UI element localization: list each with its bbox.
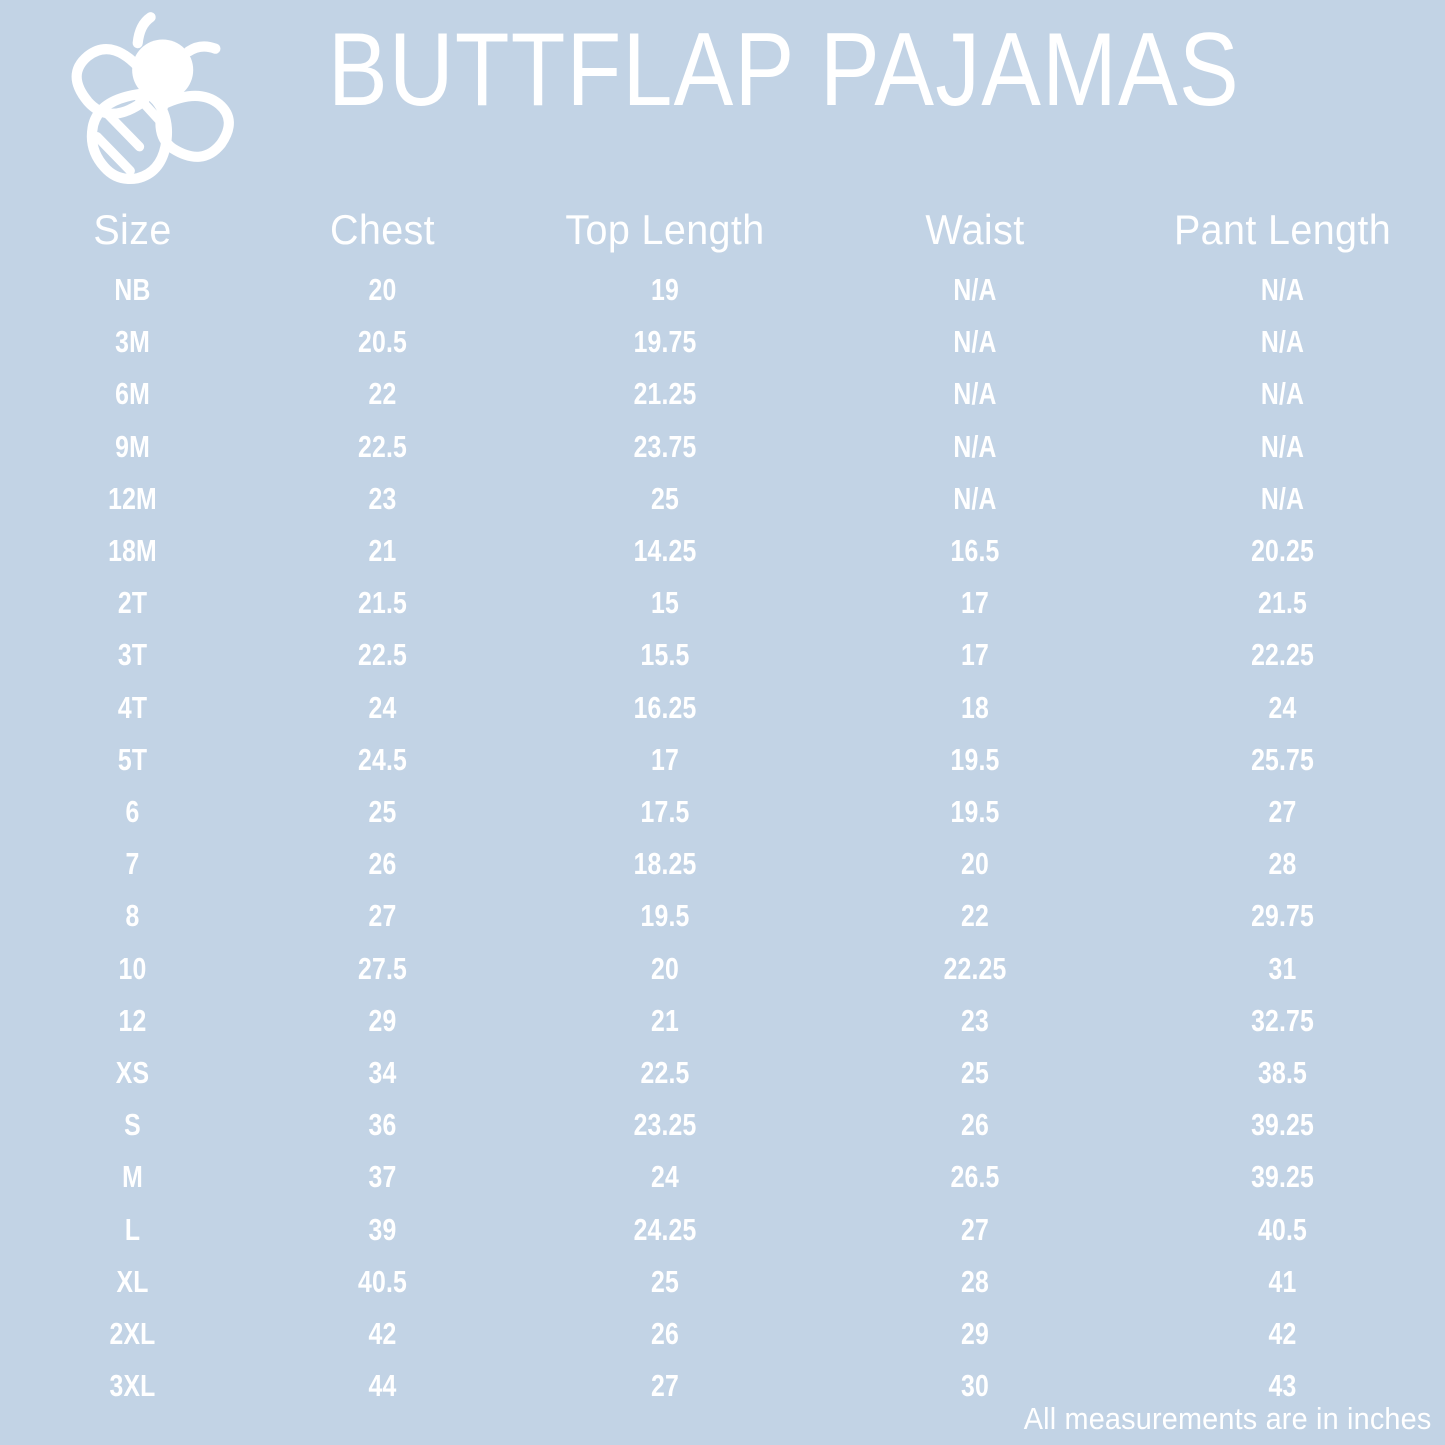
size-label-cell: 4T xyxy=(27,682,239,734)
page-title: BUTTFLAP PAJAMAS xyxy=(328,14,1283,126)
column-header-pant-length: Pant Length xyxy=(1130,196,1436,264)
measurement-cell: 20 xyxy=(289,264,477,316)
table-row: S3623.252639.25 xyxy=(0,1099,1445,1151)
measurement-cell: 19.5 xyxy=(859,786,1091,838)
measurement-cell: 27 xyxy=(289,890,477,942)
measurement-cell: 26 xyxy=(533,1308,797,1360)
measurement-cell: 17 xyxy=(859,577,1091,629)
measurement-cell: 25 xyxy=(533,1256,797,1308)
size-label-cell: XL xyxy=(27,1256,239,1308)
measurement-cell: 39.25 xyxy=(1153,1151,1413,1203)
table-row: XS3422.52538.5 xyxy=(0,1047,1445,1099)
size-label-cell: 3T xyxy=(27,629,239,681)
measurement-cell: 23 xyxy=(859,995,1091,1047)
measurement-cell: 14.25 xyxy=(533,525,797,577)
column-header-waist: Waist xyxy=(839,196,1112,264)
measurement-cell: N/A xyxy=(859,316,1091,368)
measurement-cell: 22.25 xyxy=(859,943,1091,995)
measurement-cell: N/A xyxy=(1153,421,1413,473)
measurement-cell: 22.5 xyxy=(289,629,477,681)
measurement-cell: 42 xyxy=(289,1308,477,1360)
table-header-row-group: Size Chest Top Length Waist Pant Length xyxy=(0,196,1445,264)
measurement-cell: N/A xyxy=(1153,316,1413,368)
measurement-cell: N/A xyxy=(1153,264,1413,316)
measurement-cell: 27 xyxy=(533,1360,797,1412)
measurement-cell: 19 xyxy=(533,264,797,316)
measurement-cell: 44 xyxy=(289,1360,477,1412)
table-row: 2XL42262942 xyxy=(0,1308,1445,1360)
size-chart-page: BUTTFLAP PAJAMAS Size Chest Top Length W… xyxy=(0,0,1445,1445)
table-row: M372426.539.25 xyxy=(0,1151,1445,1203)
size-label-cell: 8 xyxy=(27,890,239,942)
measurement-cell: 20.5 xyxy=(289,316,477,368)
measurement-cell: N/A xyxy=(859,473,1091,525)
measurement-cell: 20 xyxy=(533,943,797,995)
table-row: NB2019N/AN/A xyxy=(0,264,1445,316)
measurement-cell: 25 xyxy=(289,786,477,838)
table-row: L3924.252740.5 xyxy=(0,1204,1445,1256)
measurement-cell: 15 xyxy=(533,577,797,629)
table-row: 4T2416.251824 xyxy=(0,682,1445,734)
measurement-cell: 20.25 xyxy=(1153,525,1413,577)
size-label-cell: 3M xyxy=(27,316,239,368)
measurement-cell: 18 xyxy=(859,682,1091,734)
table-row: 5T24.51719.525.75 xyxy=(0,734,1445,786)
table-header-row: Size Chest Top Length Waist Pant Length xyxy=(0,196,1445,264)
size-label-cell: S xyxy=(27,1099,239,1151)
measurement-cell: 39 xyxy=(289,1204,477,1256)
table-row: 3T22.515.51722.25 xyxy=(0,629,1445,681)
table-row: 18M2114.2516.520.25 xyxy=(0,525,1445,577)
size-label-cell: NB xyxy=(27,264,239,316)
measurement-cell: 21 xyxy=(533,995,797,1047)
measurement-cell: 24 xyxy=(289,682,477,734)
table-row: 72618.252028 xyxy=(0,838,1445,890)
column-header-chest: Chest xyxy=(272,196,493,264)
measurement-cell: 22 xyxy=(289,368,477,420)
chart-header: BUTTFLAP PAJAMAS xyxy=(0,0,1445,195)
measurement-cell: 21.5 xyxy=(289,577,477,629)
measurement-cell: 24 xyxy=(1153,682,1413,734)
size-label-cell: 2T xyxy=(27,577,239,629)
measurement-cell: 21.5 xyxy=(1153,577,1413,629)
measurement-cell: N/A xyxy=(859,264,1091,316)
measurement-cell: 23 xyxy=(289,473,477,525)
measurement-cell: 19.75 xyxy=(533,316,797,368)
measurement-cell: 23.75 xyxy=(533,421,797,473)
measurement-cell: 27.5 xyxy=(289,943,477,995)
measurement-cell: 27 xyxy=(1153,786,1413,838)
measurement-cell: 20 xyxy=(859,838,1091,890)
measurement-cell: 23.25 xyxy=(533,1099,797,1151)
measurement-cell: 40.5 xyxy=(289,1256,477,1308)
measurement-cell: 17.5 xyxy=(533,786,797,838)
measurement-cell: 40.5 xyxy=(1153,1204,1413,1256)
measurement-cell: 24 xyxy=(533,1151,797,1203)
measurement-cell: N/A xyxy=(1153,368,1413,420)
table-row: 2T21.5151721.5 xyxy=(0,577,1445,629)
table-row: 82719.52229.75 xyxy=(0,890,1445,942)
measurement-cell: 19.5 xyxy=(859,734,1091,786)
measurement-cell: 22.25 xyxy=(1153,629,1413,681)
size-label-cell: XS xyxy=(27,1047,239,1099)
measurement-cell: 25 xyxy=(533,473,797,525)
measurement-cell: 22.5 xyxy=(533,1047,797,1099)
measurement-units-note: All measurements are in inches xyxy=(1023,1401,1431,1437)
measurement-cell: 34 xyxy=(289,1047,477,1099)
table-row: XL40.5252841 xyxy=(0,1256,1445,1308)
column-header-top-length: Top Length xyxy=(510,196,820,264)
measurement-cell: 25.75 xyxy=(1153,734,1413,786)
table-row: 3M20.519.75N/AN/A xyxy=(0,316,1445,368)
table-row: 62517.519.527 xyxy=(0,786,1445,838)
size-label-cell: 12 xyxy=(27,995,239,1047)
measurement-cell: 24.25 xyxy=(533,1204,797,1256)
measurement-cell: 29 xyxy=(859,1308,1091,1360)
measurement-cell: 39.25 xyxy=(1153,1099,1413,1151)
size-label-cell: 5T xyxy=(27,734,239,786)
measurement-cell: 17 xyxy=(859,629,1091,681)
size-label-cell: 6 xyxy=(27,786,239,838)
measurement-cell: 28 xyxy=(859,1256,1091,1308)
table-row: 6M2221.25N/AN/A xyxy=(0,368,1445,420)
size-chart-table: Size Chest Top Length Waist Pant Length … xyxy=(0,196,1445,1412)
measurement-cell: 41 xyxy=(1153,1256,1413,1308)
measurement-cell: 28 xyxy=(1153,838,1413,890)
table-row: 9M22.523.75N/AN/A xyxy=(0,421,1445,473)
measurement-cell: 21 xyxy=(289,525,477,577)
measurement-cell: 42 xyxy=(1153,1308,1413,1360)
size-label-cell: 6M xyxy=(27,368,239,420)
measurement-cell: 16.5 xyxy=(859,525,1091,577)
measurement-cell: 37 xyxy=(289,1151,477,1203)
measurement-cell: 24.5 xyxy=(289,734,477,786)
measurement-cell: 18.25 xyxy=(533,838,797,890)
measurement-cell: 29.75 xyxy=(1153,890,1413,942)
measurement-cell: 22 xyxy=(859,890,1091,942)
measurement-cell: 26.5 xyxy=(859,1151,1091,1203)
bee-icon xyxy=(55,8,250,193)
measurement-cell: N/A xyxy=(859,421,1091,473)
measurement-cell: 17 xyxy=(533,734,797,786)
measurement-cell: 15.5 xyxy=(533,629,797,681)
measurement-cell: 26 xyxy=(289,838,477,890)
measurement-cell: 32.75 xyxy=(1153,995,1413,1047)
measurement-cell: 16.25 xyxy=(533,682,797,734)
measurement-cell: 36 xyxy=(289,1099,477,1151)
table-body: NB2019N/AN/A3M20.519.75N/AN/A6M2221.25N/… xyxy=(0,264,1445,1412)
size-label-cell: 12M xyxy=(27,473,239,525)
size-label-cell: 9M xyxy=(27,421,239,473)
table-row: 12M2325N/AN/A xyxy=(0,473,1445,525)
measurement-cell: 31 xyxy=(1153,943,1413,995)
measurement-cell: 19.5 xyxy=(533,890,797,942)
size-label-cell: 7 xyxy=(27,838,239,890)
table-row: 1229212332.75 xyxy=(0,995,1445,1047)
size-label-cell: 10 xyxy=(27,943,239,995)
size-label-cell: M xyxy=(27,1151,239,1203)
measurement-cell: 22.5 xyxy=(289,421,477,473)
table-row: 1027.52022.2531 xyxy=(0,943,1445,995)
measurement-cell: 29 xyxy=(289,995,477,1047)
measurement-cell: 26 xyxy=(859,1099,1091,1151)
measurement-cell: 27 xyxy=(859,1204,1091,1256)
measurement-cell: 25 xyxy=(859,1047,1091,1099)
measurement-cell: N/A xyxy=(859,368,1091,420)
size-label-cell: 2XL xyxy=(27,1308,239,1360)
column-header-size: Size xyxy=(8,196,257,264)
measurement-cell: N/A xyxy=(1153,473,1413,525)
measurement-cell: 38.5 xyxy=(1153,1047,1413,1099)
size-label-cell: 18M xyxy=(27,525,239,577)
size-label-cell: 3XL xyxy=(27,1360,239,1412)
measurement-cell: 21.25 xyxy=(533,368,797,420)
size-label-cell: L xyxy=(27,1204,239,1256)
